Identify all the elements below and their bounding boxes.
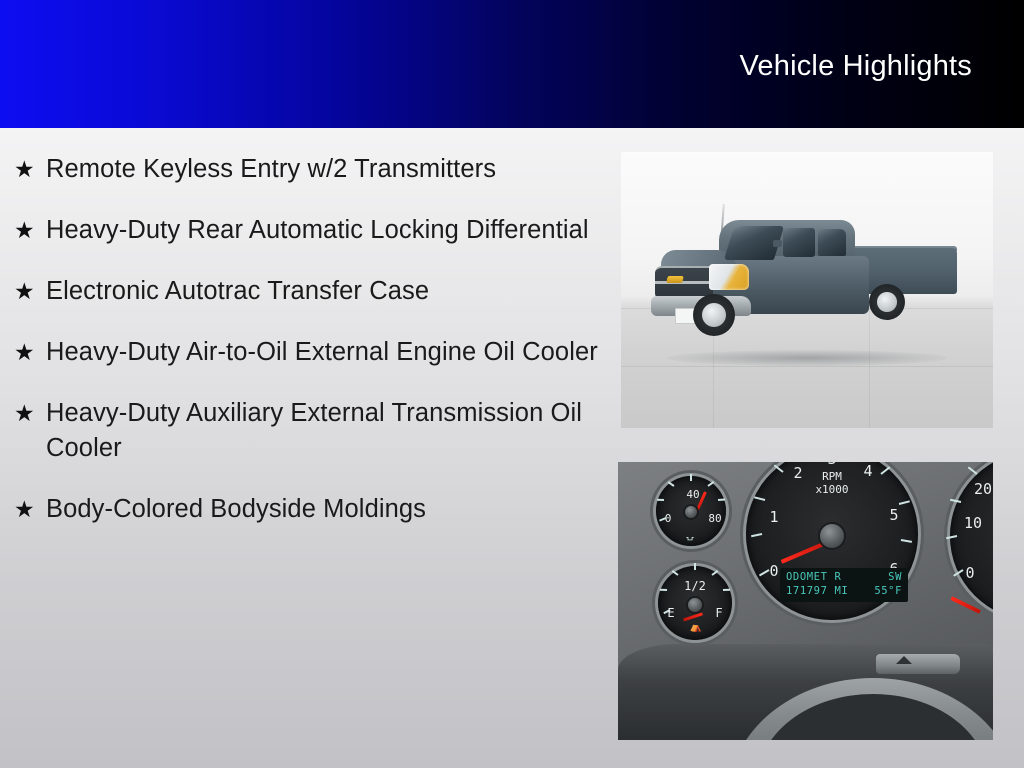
list-item: ★ Heavy-Duty Auxiliary External Transmis… bbox=[12, 396, 602, 466]
tach-tick bbox=[901, 539, 912, 543]
list-item-label: Electronic Autotrac Transfer Case bbox=[46, 274, 602, 309]
oil-tick bbox=[668, 481, 675, 487]
list-item-label: Remote Keyless Entry w/2 Transmitters bbox=[46, 152, 602, 187]
fuel-tick bbox=[660, 589, 667, 591]
tach-unit-bottom: x1000 bbox=[746, 483, 918, 496]
list-item-label: Heavy-Duty Auxiliary External Transmissi… bbox=[46, 396, 602, 466]
odometer-display-row-2: 171797 MI 55°F bbox=[786, 584, 902, 598]
oil-tick bbox=[707, 481, 714, 487]
star-bullet-icon: ★ bbox=[12, 152, 46, 187]
oil-can-icon: ⍽ bbox=[680, 530, 700, 539]
instrument-cluster-photo: RPM x1000 0 1 2 3 4 5 6 bbox=[618, 462, 993, 740]
oil-tick-label-0: 0 bbox=[661, 512, 675, 525]
list-item: ★ Heavy-Duty Rear Automatic Locking Diff… bbox=[12, 213, 602, 248]
odometer-display: ODOMET R SW 171797 MI 55°F bbox=[780, 568, 908, 602]
chevrolet-bowtie-icon bbox=[666, 276, 683, 283]
tach-tick bbox=[754, 496, 765, 501]
odometer-value: 171797 MI bbox=[786, 584, 848, 598]
rear-wheel bbox=[869, 284, 905, 320]
oil-tick bbox=[657, 499, 664, 501]
star-bullet-icon: ★ bbox=[12, 213, 46, 248]
vehicle-exterior-photo bbox=[621, 152, 993, 428]
odometer-label: ODOMET R bbox=[786, 570, 841, 584]
fuel-tick bbox=[723, 589, 730, 591]
slide: Vehicle Highlights ★ Remote Keyless Entr… bbox=[0, 0, 1024, 768]
slide-header: Vehicle Highlights bbox=[0, 0, 1024, 128]
outside-temperature: 55°F bbox=[874, 584, 902, 598]
tach-tick-label-3: 3 bbox=[824, 462, 840, 468]
tach-tick bbox=[751, 533, 762, 537]
fuel-gauge: E 1/2 F ⛺ bbox=[658, 566, 732, 640]
oil-tick bbox=[690, 474, 692, 481]
floor-line bbox=[621, 366, 993, 367]
rear-door-window bbox=[818, 229, 846, 256]
fuel-needle bbox=[683, 612, 703, 621]
status-label: SW bbox=[888, 570, 902, 584]
list-item-label: Body-Colored Bodyside Moldings bbox=[46, 492, 602, 527]
oil-gauge-hub bbox=[685, 506, 697, 518]
front-door-window bbox=[783, 228, 815, 257]
tach-tick bbox=[899, 500, 910, 505]
oil-tick bbox=[718, 499, 725, 501]
fuel-tick-label-empty: E bbox=[664, 606, 678, 620]
highlights-list: ★ Remote Keyless Entry w/2 Transmitters … bbox=[12, 152, 602, 553]
tach-tick-label-4: 4 bbox=[860, 462, 876, 480]
list-item-label: Heavy-Duty Rear Automatic Locking Differ… bbox=[46, 213, 602, 248]
tachometer-hub bbox=[820, 524, 844, 548]
star-bullet-icon: ★ bbox=[12, 274, 46, 309]
headlight bbox=[709, 264, 749, 290]
fuel-tick-label-half: 1/2 bbox=[684, 579, 706, 593]
tach-tick-label-2: 2 bbox=[790, 464, 806, 482]
speedo-tick-label-10: 10 bbox=[962, 514, 984, 532]
front-wheel bbox=[693, 294, 735, 336]
tach-tick-label-1: 1 bbox=[766, 508, 782, 526]
side-mirror bbox=[773, 240, 782, 247]
speedo-tick-label-0: 0 bbox=[962, 564, 978, 582]
star-bullet-icon: ★ bbox=[12, 396, 46, 431]
wiper-stalk[interactable] bbox=[876, 654, 960, 674]
list-item: ★ Body-Colored Bodyside Moldings bbox=[12, 492, 602, 527]
star-bullet-icon: ★ bbox=[12, 335, 46, 370]
list-item: ★ Remote Keyless Entry w/2 Transmitters bbox=[12, 152, 602, 187]
list-item-label: Heavy-Duty Air-to-Oil External Engine Oi… bbox=[46, 335, 602, 370]
list-item: ★ Heavy-Duty Air-to-Oil External Engine … bbox=[12, 335, 602, 370]
tach-tick-label-5: 5 bbox=[886, 506, 902, 524]
fuel-tick-label-full: F bbox=[712, 606, 726, 620]
list-item: ★ Electronic Autotrac Transfer Case bbox=[12, 274, 602, 309]
fuel-pump-icon: ⛺ bbox=[686, 622, 706, 631]
fuel-tick bbox=[672, 570, 679, 576]
pickup-truck bbox=[649, 204, 963, 364]
stalk-arrow-icon bbox=[896, 656, 912, 664]
fuel-tick bbox=[711, 570, 718, 576]
star-bullet-icon: ★ bbox=[12, 492, 46, 527]
oil-tick-label-80: 80 bbox=[706, 512, 724, 525]
speedo-tick-label-20: 20 bbox=[972, 480, 993, 498]
tach-unit-top: RPM bbox=[746, 470, 918, 483]
page-title: Vehicle Highlights bbox=[739, 49, 972, 83]
fuel-tick bbox=[694, 563, 696, 570]
oil-pressure-gauge: 0 40 80 ⍽ bbox=[656, 476, 726, 546]
fuel-gauge-hub bbox=[688, 598, 702, 612]
odometer-display-row-1: ODOMET R SW bbox=[786, 570, 902, 584]
